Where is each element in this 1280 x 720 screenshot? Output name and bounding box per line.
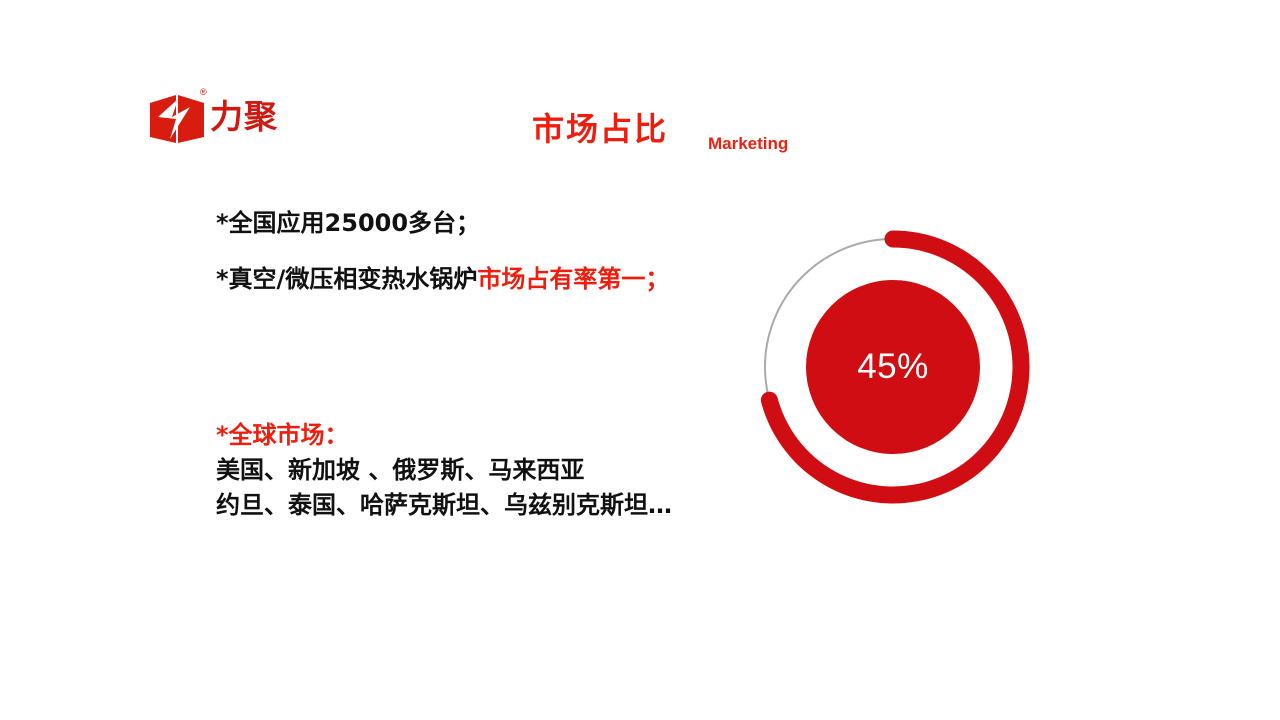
bullet-2-text: *真空/微压相变热水锅炉 — [216, 265, 477, 293]
global-market-heading: *全球市场： — [216, 418, 776, 453]
donut-inner-disc — [806, 280, 980, 454]
brand-wordmark: 力聚 — [210, 100, 278, 133]
donut-chart-svg — [756, 230, 1030, 504]
page-title: 市场占比 — [532, 110, 668, 148]
global-market-line-2: 约旦、泰国、哈萨克斯坦、乌兹别克斯坦… — [216, 488, 776, 523]
bullet-2-highlight: 市场占有率第一； — [477, 265, 669, 293]
lightning-bolt-logo-icon — [148, 93, 206, 145]
global-market-block: *全球市场： 美国、新加坡 、俄罗斯、马来西亚 约旦、泰国、哈萨克斯坦、乌兹别克… — [216, 418, 776, 522]
registered-trademark-icon: ® — [200, 88, 207, 97]
bullet-1-text: *全国应用25000多台； — [216, 209, 480, 237]
market-share-donut-chart: 45% — [756, 230, 1030, 504]
global-market-line-1: 美国、新加坡 、俄罗斯、马来西亚 — [216, 453, 776, 488]
brand-logo: ® 力聚 — [148, 88, 348, 146]
bullet-item-2: *真空/微压相变热水锅炉市场占有率第一； — [216, 262, 736, 296]
bullet-list: *全国应用25000多台； *真空/微压相变热水锅炉市场占有率第一； — [216, 206, 736, 296]
bullet-item-1: *全国应用25000多台； — [216, 206, 736, 240]
slide-canvas: ® 力聚 市场占比 Marketing *全国应用25000多台； *真空/微压… — [0, 0, 1280, 720]
page-subtitle: Marketing — [708, 134, 788, 154]
